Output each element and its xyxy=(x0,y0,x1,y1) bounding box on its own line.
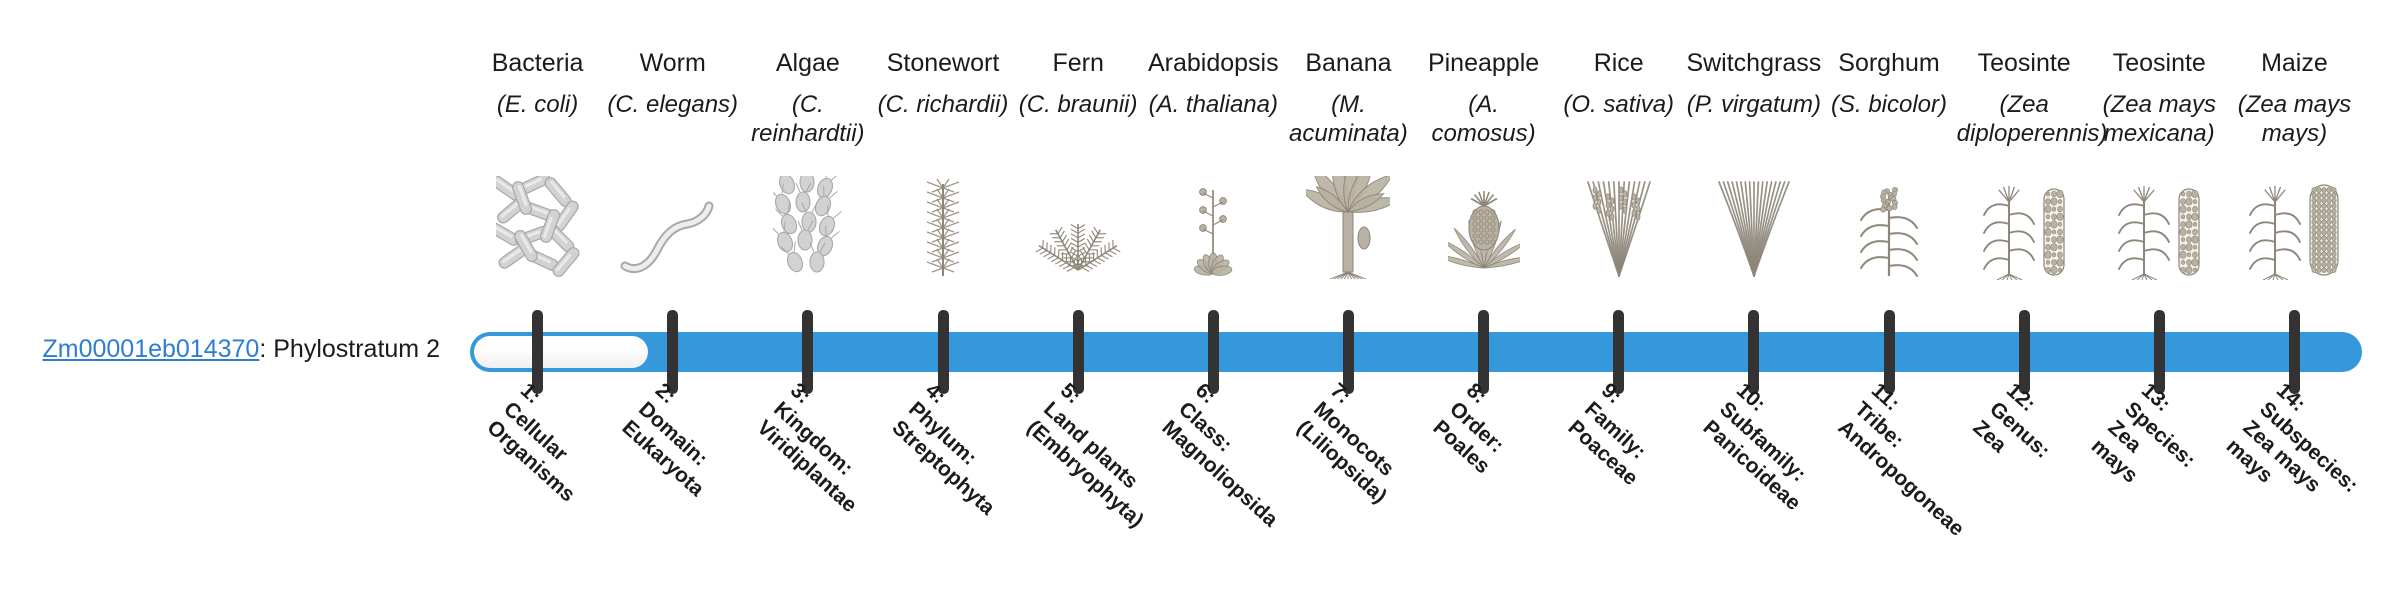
sorghum-plant-icon xyxy=(1822,170,1957,280)
species-common-name: Pineapple xyxy=(1416,48,1551,78)
species-scientific-name: (Zea mays mays) xyxy=(2227,90,2362,148)
algae-cells-icon xyxy=(740,170,875,280)
species-column-14: Maize (Zea mays mays) xyxy=(2227,48,2362,148)
teosinte-plant-and-ear-icon xyxy=(2092,170,2227,280)
species-scientific-name: (C. braunii) xyxy=(1011,90,1146,119)
species-scientific-name: (Zea diploperennis) xyxy=(1957,90,2092,148)
species-column-9: Rice (O. sativa) xyxy=(1551,48,1686,119)
phylostratum-progress-bar[interactable] xyxy=(470,332,2362,372)
species-common-name: Stonewort xyxy=(876,48,1011,78)
gene-id-link[interactable]: Zm00001eb014370 xyxy=(42,335,259,363)
species-common-name: Banana xyxy=(1281,48,1416,78)
progress-track[interactable] xyxy=(470,332,2362,372)
bacteria-rods-icon xyxy=(470,170,605,280)
pineapple-plant-icon xyxy=(1416,170,1551,280)
maize-plant-and-ear-icon xyxy=(2227,170,2362,280)
progress-unfilled-segment xyxy=(474,336,648,368)
species-scientific-name: (Zea mays mexicana) xyxy=(2092,90,2227,148)
species-scientific-name: (C. reinhardtii) xyxy=(740,90,875,148)
species-common-name: Sorghum xyxy=(1822,48,1957,78)
species-column-3: Algae (C. reinhardtii) xyxy=(740,48,875,148)
teosinte-plant-and-ear-icon xyxy=(1957,170,2092,280)
gene-phylostratum-text: : Phylostratum 2 xyxy=(259,335,440,363)
species-common-name: Algae xyxy=(740,48,875,78)
stratum-label-list: 1: Cellular Organisms2: Domain: Eukaryot… xyxy=(470,378,2362,520)
species-column-list: Bacteria (E. coli) xyxy=(472,48,2360,318)
species-column-6: Arabidopsis (A. thaliana) xyxy=(1146,48,1281,119)
species-column-1: Bacteria (E. coli) xyxy=(470,48,605,119)
species-common-name: Bacteria xyxy=(470,48,605,78)
species-scientific-name: (O. sativa) xyxy=(1551,90,1686,119)
rice-plant-icon xyxy=(1551,170,1686,280)
arabidopsis-icon xyxy=(1146,170,1281,280)
species-scientific-name: (A. thaliana) xyxy=(1146,90,1281,119)
species-common-name: Rice xyxy=(1551,48,1686,78)
species-common-name: Teosinte xyxy=(1957,48,2092,78)
species-column-5: Fern (C. braunii) xyxy=(1011,48,1146,119)
species-common-name: Arabidopsis xyxy=(1146,48,1281,78)
species-column-7: Banana (M. acuminata) xyxy=(1281,48,1416,148)
phylostratum-value: Phylostratum 2 xyxy=(273,335,440,363)
stonewort-icon xyxy=(876,170,1011,280)
species-column-4: Stonewort (C. richardii) xyxy=(876,48,1011,119)
banana-plant-icon xyxy=(1281,170,1416,280)
species-column-2: Worm (C. elegans) xyxy=(605,48,740,119)
species-common-name: Fern xyxy=(1011,48,1146,78)
species-common-name: Worm xyxy=(605,48,740,78)
species-column-13: Teosinte (Zea mays mexicana) xyxy=(2092,48,2227,148)
gene-label-separator: : xyxy=(259,335,273,363)
species-scientific-name: (E. coli) xyxy=(470,90,605,119)
phylostratum-timeline: Zm00001eb014370: Phylostratum 2 Bacteria… xyxy=(0,0,2400,520)
species-common-name: Switchgrass xyxy=(1686,48,1821,78)
species-scientific-name: (P. virgatum) xyxy=(1686,90,1821,119)
species-column-12: Teosinte (Zea diploperennis) xyxy=(1957,48,2092,148)
species-column-10: Switchgrass (P. virgatum) xyxy=(1686,48,1821,119)
species-scientific-name: (C. richardii) xyxy=(876,90,1011,119)
species-scientific-name: (C. elegans) xyxy=(605,90,740,119)
species-scientific-name: (A. comosus) xyxy=(1416,90,1551,148)
species-scientific-name: (S. bicolor) xyxy=(1822,90,1957,119)
species-scientific-name: (M. acuminata) xyxy=(1281,90,1416,148)
species-column-11: Sorghum (S. bicolor) xyxy=(1822,48,1957,119)
fern-frond-icon xyxy=(1011,170,1146,280)
switchgrass-icon xyxy=(1686,170,1821,280)
nematode-worm-icon xyxy=(605,170,740,280)
species-common-name: Maize xyxy=(2227,48,2362,78)
species-common-name: Teosinte xyxy=(2092,48,2227,78)
gene-phylostratum-label: Zm00001eb014370: Phylostratum 2 xyxy=(40,335,440,364)
species-column-8: Pineapple (A. comosus) xyxy=(1416,48,1551,148)
